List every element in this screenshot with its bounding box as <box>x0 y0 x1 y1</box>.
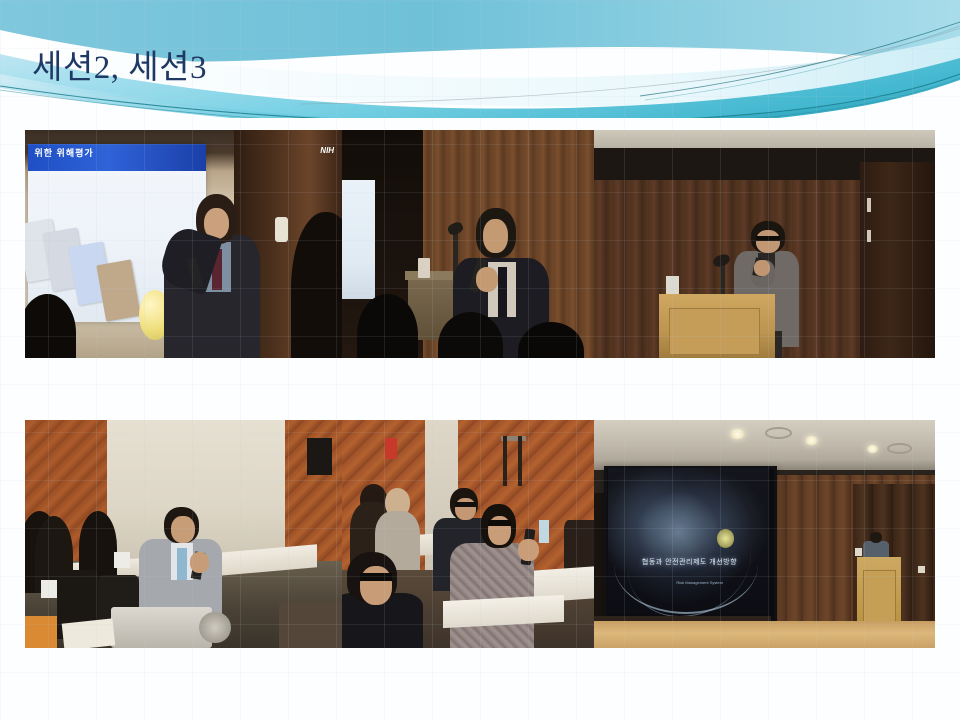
photo-scene <box>342 130 594 358</box>
projected-slide-logo: NIH <box>320 146 334 155</box>
photo-hall-with-projection-screen[interactable]: 협동과 안전관리제도 개선방향 Risk Management System 대… <box>594 420 935 648</box>
photo-scene <box>594 130 935 358</box>
photo-row-top: 위한 위해평가 NIH 남성 발표자가 마이크를 들고 프로젝터 화면 앞에서 … <box>25 130 935 358</box>
photo-scene: 협동과 안전관리제도 개선방향 Risk Management System <box>594 420 935 648</box>
screen-slide-title: 협동과 안전관리제도 개선방향 <box>625 557 755 567</box>
photo-scene <box>25 420 342 648</box>
photo-audience-discussion-with-projector[interactable]: 회색 재킷의 남성이 마이크를 들고 질문하는 토론 장면, 앞쪽에 프로젝터 <box>25 420 342 648</box>
presentation-slide: 세션2, 세션3 위한 위해평가 NIH <box>0 0 960 720</box>
photo-speaker-at-wooden-podium[interactable]: 안경을 쓴 발표자가 나무 연단에서 마이크를 들고 발표하는 모습 <box>594 130 935 358</box>
photo-scene: 위한 위해평가 NIH <box>25 130 342 358</box>
photo-speaker-with-projected-slide[interactable]: 위한 위해평가 NIH 남성 발표자가 마이크를 들고 프로젝터 화면 앞에서 … <box>25 130 342 358</box>
photo-audience-question-woman-microphone[interactable]: 참가자들이 테이블에 앉아 있고 안경을 쓴 여성이 마이크를 들고 질문하는 … <box>342 420 594 648</box>
photo-speaker-at-lectern-microphone[interactable]: 정장 차림의 남성이 연단 옆에서 마이크를 들고 이야기하는 모습 <box>342 130 594 358</box>
photo-scene <box>342 420 594 648</box>
projected-slide-title: 위한 위해평가 <box>35 146 94 159</box>
page-title: 세션2, 세션3 <box>32 48 207 88</box>
screen-slide-subtitle: Risk Management System <box>669 580 730 585</box>
photo-row-bottom: 회색 재킷의 남성이 마이크를 들고 질문하는 토론 장면, 앞쪽에 프로젝터 <box>25 420 935 648</box>
